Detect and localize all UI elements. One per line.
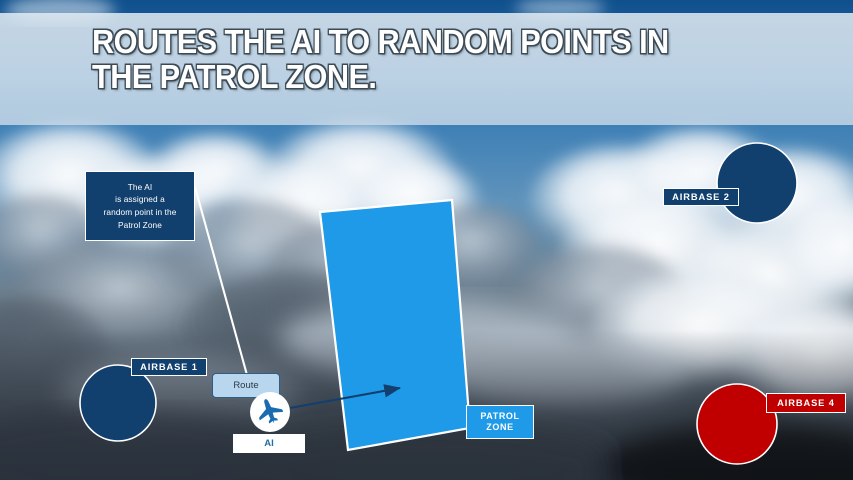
airbase-2-label[interactable]: AIRBASE 2	[663, 188, 739, 206]
patrol-zone-label[interactable]: PATROL ZONE	[466, 405, 534, 439]
slide-canvas: ROUTES THE AI TO RANDOM POINTS IN THE PA…	[0, 0, 853, 480]
airbase-1-label[interactable]: AIRBASE 1	[131, 358, 207, 376]
callout-line-1: The AI	[128, 181, 153, 194]
title-line-1: ROUTES THE AI TO RANDOM POINTS IN	[92, 24, 734, 59]
ai-label[interactable]: AI	[233, 434, 305, 453]
patrol-zone-label-line-2: ZONE	[486, 422, 513, 434]
ai-jet-badge[interactable]	[250, 392, 290, 432]
callout-textbox: The AI is assigned a random point in the…	[85, 171, 195, 241]
callout-line-2: is assigned a	[115, 193, 165, 206]
title-line-2: THE PATROL ZONE.	[92, 59, 734, 94]
callout-line-3: random point in the	[104, 206, 177, 219]
page-title: ROUTES THE AI TO RANDOM POINTS IN THE PA…	[92, 24, 734, 94]
airbase-4-label[interactable]: AIRBASE 4	[766, 393, 846, 413]
callout-line-4: Patrol Zone	[118, 219, 162, 232]
fighter-jet-icon	[255, 397, 285, 427]
patrol-zone-label-line-1: PATROL	[480, 411, 519, 423]
